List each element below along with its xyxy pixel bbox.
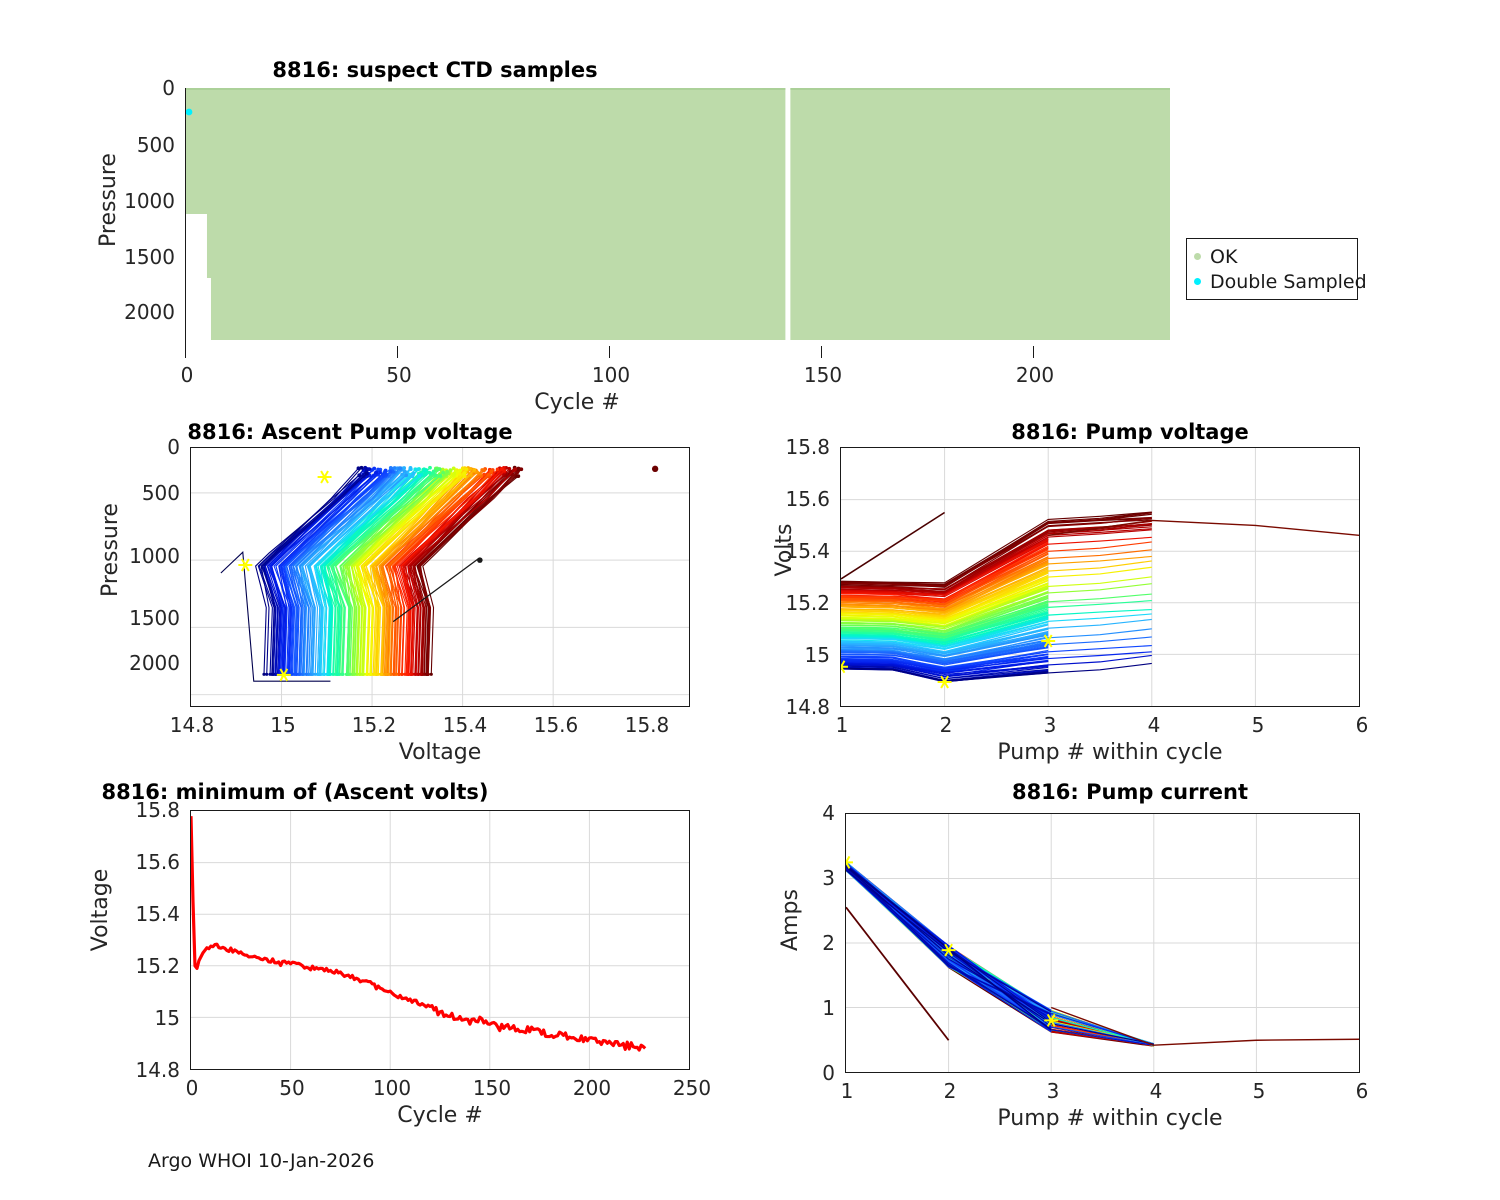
profile-trace [846, 866, 1154, 1045]
figure-footer: Argo WHOI 10-Jan-2026 [148, 1150, 374, 1172]
cycle-colormap-strip [186, 350, 1170, 358]
profile-trace [846, 865, 1154, 1046]
profile-trace [846, 869, 1154, 1046]
xtick-pumpv-1: 1 [836, 713, 849, 737]
sample-point [388, 470, 392, 474]
profile-trace [846, 870, 1154, 1045]
profile-trace [846, 870, 1154, 1046]
xtick-ascent-152: 15.2 [352, 713, 397, 737]
ytick-pumpc-0: 0 [790, 1061, 835, 1085]
axes-min-ascent-volts [190, 810, 690, 1070]
sample-point [416, 467, 420, 471]
sample-point [373, 673, 376, 676]
pump-current-outlier-trace [846, 907, 949, 1040]
sample-point [271, 673, 274, 676]
sample-point [462, 471, 466, 475]
sample-point [403, 470, 407, 474]
ytick-suspect-0: 0 [120, 76, 175, 100]
sample-point [512, 468, 516, 472]
sample-point [472, 468, 476, 472]
sample-point [395, 673, 398, 676]
sample-point [434, 473, 438, 477]
panel-ascent-pump-voltage: 8816: Ascent Pump voltage 0 500 1000 150… [0, 415, 750, 765]
sample-point [378, 470, 382, 474]
xtick-minasc-250: 250 [673, 1076, 711, 1100]
sample-point [323, 673, 326, 676]
yellow-star-marker [318, 471, 332, 483]
legend-item-double-sampled: Double Sampled [1194, 269, 1348, 294]
profile-trace [846, 868, 1154, 1046]
xtick-minasc-200: 200 [573, 1076, 611, 1100]
ytick-pumpv-15: 15 [745, 643, 830, 667]
xtick-mark-50 [397, 346, 398, 358]
profile-trace [846, 866, 1154, 1044]
ytick-pumpv-158: 15.8 [745, 435, 830, 459]
legend-dot-double-sampled-icon [1194, 278, 1201, 285]
sample-point [380, 673, 383, 676]
ylabel-min-ascent-volts: Voltage [88, 830, 113, 990]
xtick-pumpc-4: 4 [1150, 1079, 1163, 1103]
axes-suspect-ctd [185, 88, 1170, 358]
xlabel-min-ascent-volts: Cycle # [340, 1103, 540, 1128]
surface-sample-dots [186, 88, 1170, 90]
sample-point [398, 673, 401, 676]
sample-point [398, 466, 402, 470]
xtick-mark-150 [821, 346, 822, 358]
xlabel-suspect-ctd: Cycle # [477, 390, 677, 415]
xtick-pumpc-1: 1 [841, 1079, 854, 1103]
argo-diagnostic-figure: 8816: suspect CTD samples 0 500 1000 150… [0, 0, 1500, 1200]
ok-samples-area [186, 88, 1170, 340]
ylabel-pump-current: Amps [778, 860, 803, 980]
profile-trace [846, 865, 1154, 1045]
sample-point [458, 469, 462, 473]
profile-trace [846, 868, 1154, 1044]
pump-current-traces [846, 862, 1154, 1046]
ytick-suspect-2000: 2000 [108, 300, 175, 324]
legend-label-double-sampled: Double Sampled [1210, 271, 1367, 293]
legend-dot-ok-icon [1194, 253, 1201, 260]
legend-item-ok: OK [1194, 244, 1348, 269]
sample-point [417, 474, 421, 478]
sample-point [360, 466, 364, 470]
sample-point [369, 673, 372, 676]
sample-point [345, 673, 348, 676]
profile-trace [846, 862, 1154, 1044]
xtick-ascent-15: 15 [270, 713, 295, 737]
xlabel-pump-current: Pump # within cycle [950, 1106, 1270, 1131]
xtick-suspect-200: 200 [1016, 363, 1054, 387]
profile-trace [846, 868, 1154, 1045]
gridlines [191, 811, 689, 1069]
ylabel-pump-voltage: Volts [772, 490, 797, 610]
profile-trace [846, 870, 1154, 1044]
sample-point [341, 673, 344, 676]
sample-point [441, 471, 445, 475]
profile-trace [846, 863, 1154, 1045]
sample-point [515, 471, 519, 475]
sample-point [404, 473, 408, 477]
sample-point [431, 471, 435, 475]
sample-point [438, 467, 442, 471]
profile-trace [846, 867, 1154, 1044]
sample-point [480, 468, 484, 472]
axes-ascent-pump-voltage [190, 447, 690, 707]
sample-point [409, 466, 413, 470]
ytick-minasc-148: 14.8 [100, 1058, 180, 1082]
suspect-ctd-plot-svg [186, 88, 1170, 358]
xtick-suspect-50: 50 [386, 363, 411, 387]
sample-point [374, 470, 378, 474]
ytick-ascent-500: 500 [122, 481, 180, 505]
ytick-ascent-2000: 2000 [110, 651, 180, 675]
profile-trace [846, 863, 1154, 1044]
xtick-minasc-0: 0 [186, 1076, 199, 1100]
yellow-star-marker [238, 559, 252, 571]
profile-trace [846, 869, 1154, 1046]
sample-point [448, 468, 452, 472]
profile-trace [846, 869, 1154, 1046]
ytick-minasc-158: 15.8 [100, 798, 180, 822]
sample-point [496, 468, 500, 472]
panel-title-pump-current: 8816: Pump current [530, 780, 1500, 804]
pump-voltage-plot-svg [841, 448, 1359, 706]
legend-label-ok: OK [1210, 246, 1237, 268]
sample-point [336, 673, 339, 676]
panel-pump-voltage: 8816: Pump voltage 15.8 15.6 15.4 15.2 1… [750, 415, 1500, 765]
profile-trace [846, 869, 1154, 1046]
xlabel-ascent-pump-voltage: Voltage [340, 740, 540, 765]
sample-point [294, 673, 297, 676]
profile-trace [846, 868, 1154, 1045]
profile-trace [846, 869, 1154, 1044]
profile-trace [846, 864, 1154, 1044]
sample-point [465, 467, 469, 471]
sample-point [468, 467, 472, 471]
pump-voltage-traces [841, 512, 1152, 682]
ytick-suspect-500: 500 [120, 133, 175, 157]
sample-point [415, 673, 418, 676]
profile-trace [846, 866, 1154, 1045]
xtick-ascent-148: 14.8 [170, 713, 215, 737]
profile-trace [846, 870, 1154, 1044]
panel-title-suspect-ctd: 8816: suspect CTD samples [0, 58, 1185, 82]
xlabel-pump-voltage: Pump # within cycle [950, 740, 1270, 765]
pump-current-plot-svg [846, 814, 1359, 1072]
sample-point [412, 471, 416, 475]
min-ascent-volts-line [191, 816, 645, 1050]
xtick-mark-100 [609, 346, 610, 358]
ytick-pumpc-4: 4 [790, 801, 835, 825]
profile-trace [846, 870, 1154, 1045]
profile-trace [846, 870, 1154, 1045]
profile-trace [846, 871, 1154, 1044]
sample-point [428, 466, 432, 470]
profile-trace [846, 868, 1154, 1044]
ytick-minasc-15: 15 [100, 1006, 180, 1030]
profile-trace [846, 868, 1154, 1046]
xtick-ascent-158: 15.8 [625, 713, 670, 737]
ascent-pump-voltage-plot-svg [191, 448, 689, 706]
sample-point [430, 673, 433, 676]
pump-voltage-outlier-trace [841, 513, 945, 579]
panel-title-pump-voltage: 8816: Pump voltage [530, 420, 1500, 444]
sample-point [265, 673, 268, 676]
profile-trace [846, 867, 1154, 1045]
xtick-minasc-50: 50 [279, 1076, 304, 1100]
profile-trace [846, 870, 1154, 1044]
sample-point [365, 472, 369, 476]
xtick-pumpc-6: 6 [1356, 1079, 1369, 1103]
ascent-outlier-black-point [477, 557, 483, 563]
xtick-pumpc-2: 2 [944, 1079, 957, 1103]
profile-trace [846, 869, 1154, 1046]
sample-point [500, 467, 504, 471]
sample-point [519, 467, 523, 471]
sample-point [305, 673, 308, 676]
xtick-pumpv-6: 6 [1356, 713, 1369, 737]
xtick-mark-0 [185, 346, 186, 358]
xtick-pumpv-5: 5 [1252, 713, 1265, 737]
ylabel-ascent-pump-voltage: Pressure [98, 470, 123, 630]
sample-point [424, 473, 428, 477]
panel-min-ascent-volts: 8816: minimum of (Ascent volts) 15.8 15.… [0, 775, 750, 1175]
axes-pump-current [845, 813, 1360, 1073]
xtick-mark-200 [1033, 346, 1034, 358]
panel-suspect-ctd: 8816: suspect CTD samples 0 500 1000 150… [0, 50, 1500, 400]
legend-suspect-ctd: OK Double Sampled [1186, 238, 1358, 300]
xtick-pumpc-5: 5 [1253, 1079, 1266, 1103]
sample-point [384, 469, 388, 473]
xtick-minasc-150: 150 [473, 1076, 511, 1100]
xtick-suspect-0: 0 [181, 363, 194, 387]
sample-point [376, 673, 379, 676]
xtick-suspect-150: 150 [804, 363, 842, 387]
profile-trace [846, 866, 1154, 1045]
ytick-pumpc-1: 1 [790, 996, 835, 1020]
sample-point [385, 673, 388, 676]
profile-trace [846, 867, 1154, 1045]
ytick-pumpv-148: 14.8 [745, 695, 830, 719]
profile-trace [846, 865, 1154, 1046]
min-ascent-volts-plot-svg [191, 811, 689, 1069]
sample-point [372, 467, 376, 471]
profile-trace [846, 871, 1154, 1046]
profile-trace [846, 871, 1154, 1044]
profile-trace [846, 870, 1154, 1044]
ascent-voltage-traces [256, 466, 524, 676]
xtick-ascent-154: 15.4 [443, 713, 488, 737]
sample-point [423, 468, 427, 472]
profile-trace [846, 870, 1154, 1046]
ylabel-suspect-ctd: Pressure [96, 120, 121, 280]
xtick-minasc-100: 100 [373, 1076, 411, 1100]
sample-point [363, 466, 367, 470]
sample-point [445, 470, 449, 474]
sample-point [401, 673, 404, 676]
ytick-ascent-0: 0 [122, 435, 180, 459]
xtick-suspect-100: 100 [592, 363, 630, 387]
profile-trace [846, 862, 1154, 1046]
xtick-pumpv-3: 3 [1044, 713, 1057, 737]
sample-point [490, 469, 494, 473]
sample-point [426, 673, 429, 676]
profile-trace [846, 866, 1154, 1045]
sample-point [357, 473, 361, 477]
sample-point [452, 471, 456, 475]
axes-pump-voltage [840, 447, 1360, 707]
sample-point [438, 474, 442, 478]
xtick-pumpc-3: 3 [1047, 1079, 1060, 1103]
xtick-ascent-156: 15.6 [534, 713, 579, 737]
ascent-outlier-darkred-point [652, 466, 658, 472]
profile-trace [846, 868, 1154, 1046]
profile-trace [846, 863, 1154, 1044]
xtick-pumpv-2: 2 [940, 713, 953, 737]
sample-point [262, 673, 265, 676]
profile-trace [846, 870, 1154, 1045]
xtick-pumpv-4: 4 [1148, 713, 1161, 737]
panel-pump-current: 8816: Pump current 4 3 2 1 0 Amps [750, 775, 1500, 1175]
sample-point [452, 466, 456, 470]
